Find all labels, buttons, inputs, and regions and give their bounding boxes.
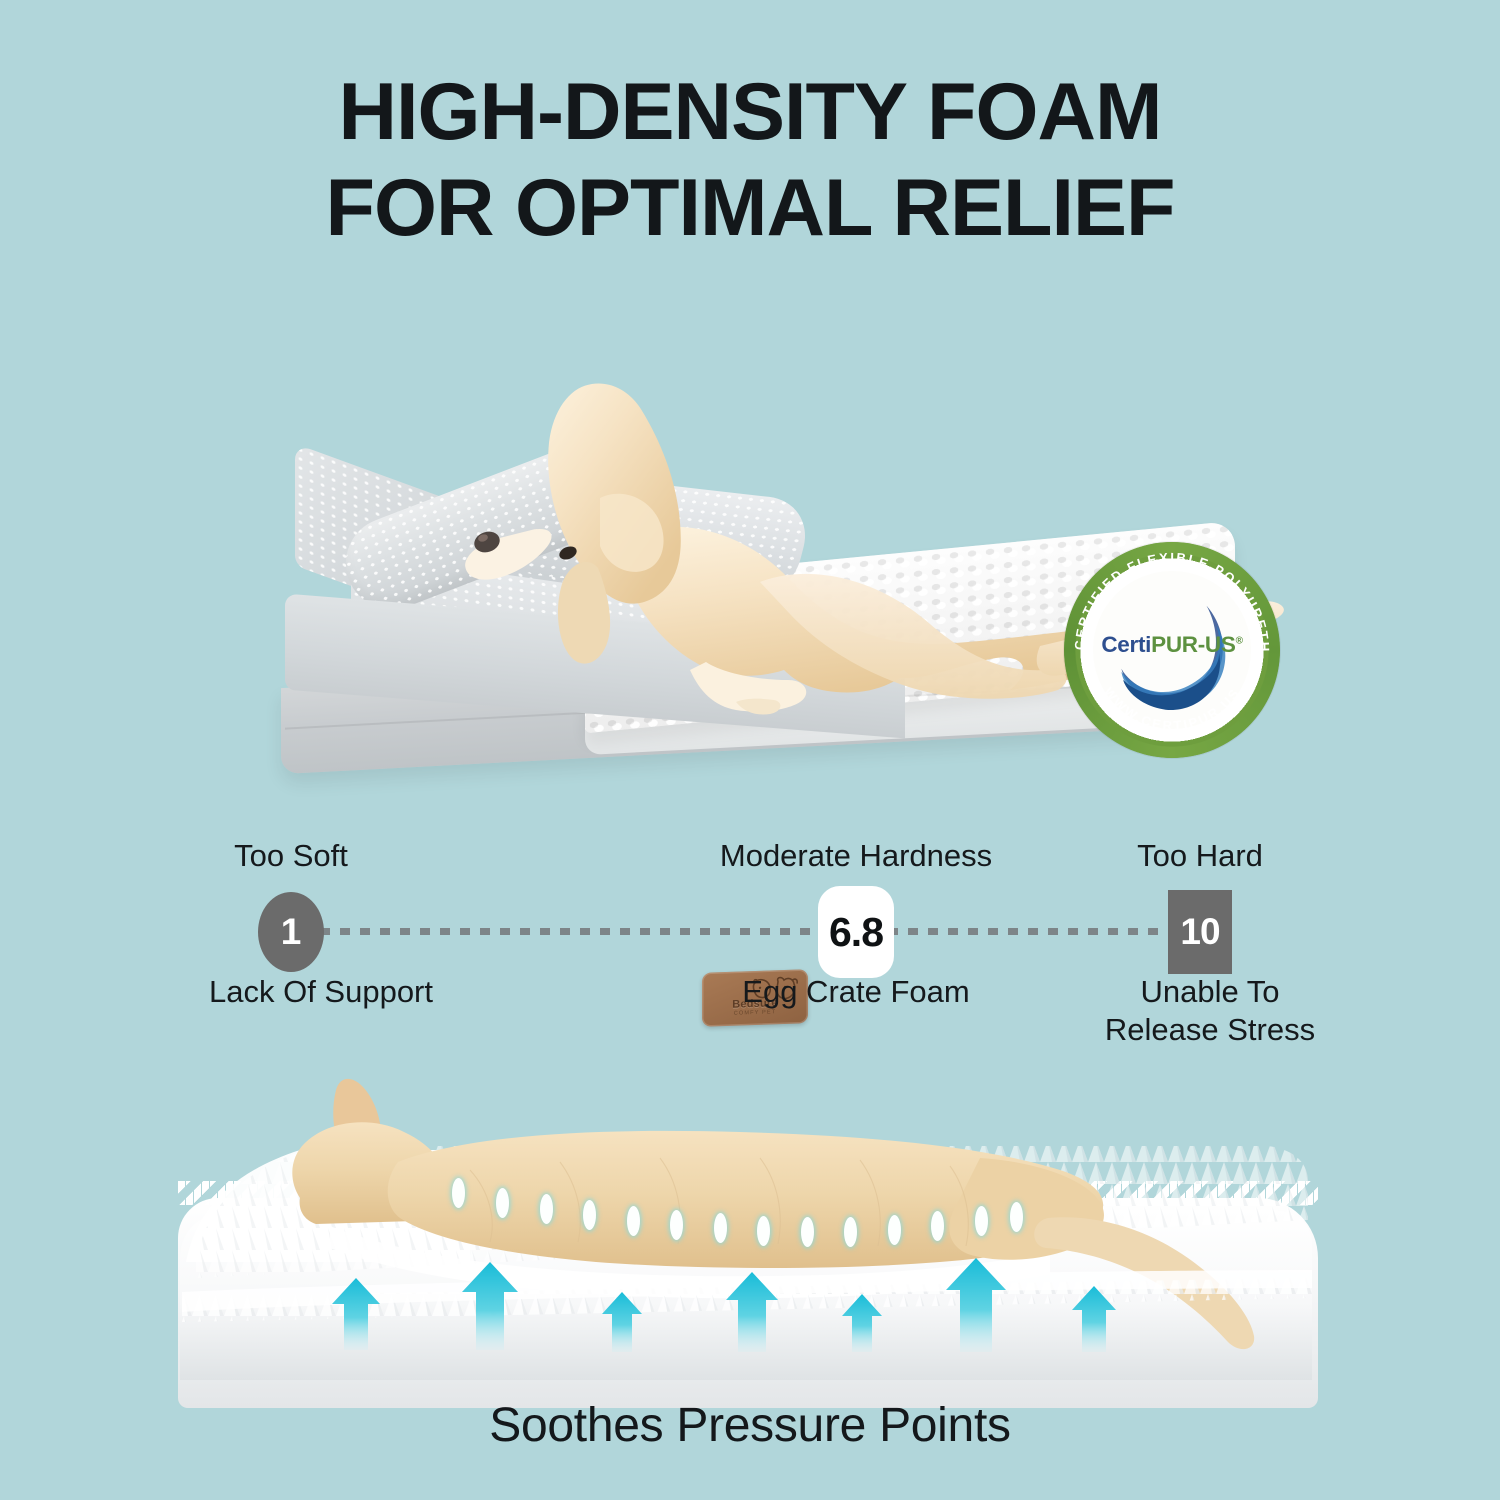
headline-line-1: HIGH-DENSITY FOAM [338, 67, 1161, 157]
hero-product-photo: CertiPUR-US® CONTAINS CERTIFIED FLEXIBLE… [0, 250, 1500, 810]
badge-arc-bottom-label: WWW.CERTIPUR.US [1101, 685, 1243, 734]
scale-marker-10[interactable]: 10 [1168, 890, 1232, 974]
scale-marker-10-value: 10 [1180, 911, 1219, 953]
scale-top-label-hard: Too Hard [1100, 838, 1300, 874]
scale-track-right [888, 928, 1170, 935]
scale-top-label-moderate: Moderate Hardness [706, 838, 1006, 874]
bottom-caption: Soothes Pressure Points [0, 1398, 1500, 1453]
scale-marker-68[interactable]: 6.8 [818, 886, 894, 978]
badge-arc-top-label: CONTAINS CERTIFIED FLEXIBLE POLYURETHANE… [1064, 542, 1272, 654]
scale-bottom-label-line-1: Unable To [1080, 973, 1340, 1011]
scale-marker-1-value: 1 [281, 911, 302, 953]
certipur-us-badge: CertiPUR-US® CONTAINS CERTIFIED FLEXIBLE… [1064, 542, 1280, 758]
scale-bottom-label-egg-crate: Egg Crate Foam [706, 973, 1006, 1011]
scale-top-label-soft: Too Soft [181, 838, 401, 874]
foam-and-dog-illustration [0, 1030, 1500, 1410]
page-title: HIGH-DENSITY FOAM FOR OPTIMAL RELIEF [0, 64, 1500, 256]
scale-bottom-label-lack-support: Lack Of Support [176, 973, 466, 1011]
scale-marker-68-value: 6.8 [829, 909, 883, 956]
scale-track-left [300, 928, 840, 935]
headline-line-2: FOR OPTIMAL RELIEF [0, 160, 1500, 256]
hardness-scale: Too Soft Moderate Hardness Too Hard 1 6.… [0, 838, 1500, 1038]
badge-arc-text: CONTAINS CERTIFIED FLEXIBLE POLYURETHANE… [1064, 542, 1280, 758]
pressure-relief-scene [0, 1030, 1500, 1410]
infographic-stage: HIGH-DENSITY FOAM FOR OPTIMAL RELIEF [0, 0, 1500, 1500]
scale-marker-1[interactable]: 1 [258, 892, 324, 972]
